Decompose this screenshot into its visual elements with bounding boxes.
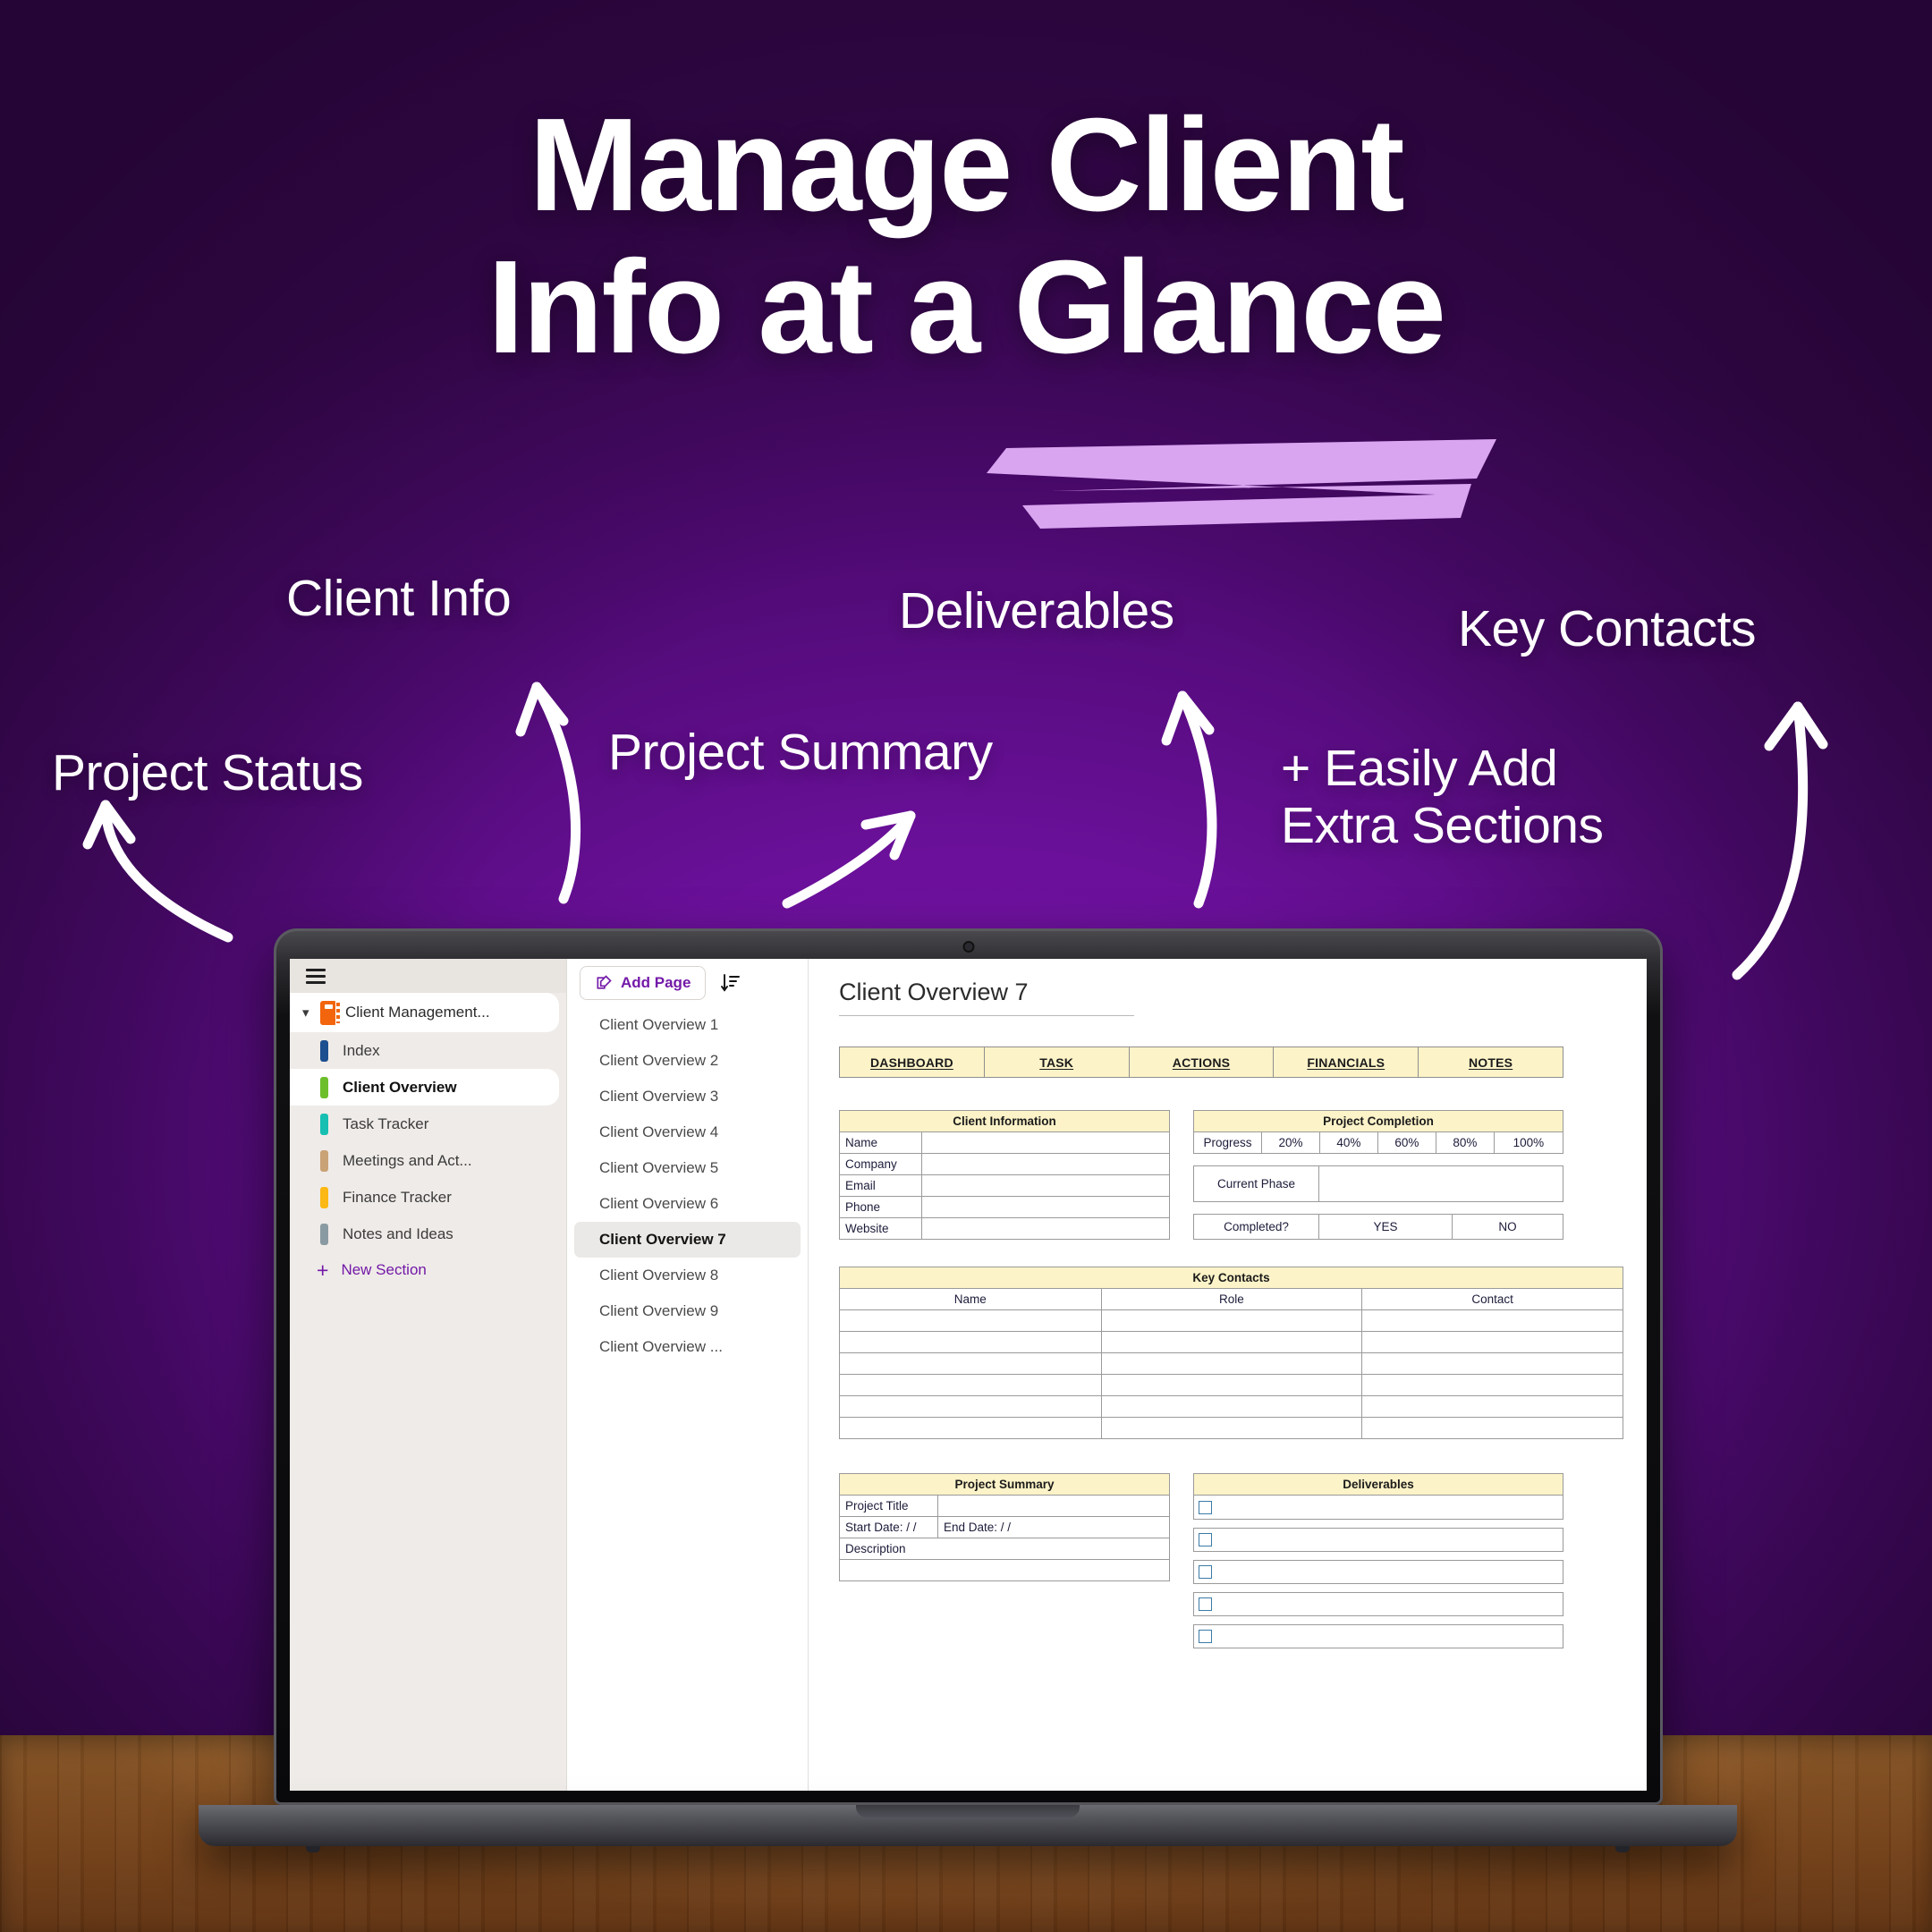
completed-table[interactable]: Completed? YES NO	[1193, 1214, 1563, 1240]
laptop-screen: ▾ Client Management... Index Client Over…	[290, 959, 1647, 1791]
page-item-label: Client Overview 5	[599, 1159, 718, 1177]
tab-label: DASHBOARD	[870, 1055, 953, 1070]
page-item-label: Client Overview 1	[599, 1016, 718, 1034]
field-value-company[interactable]	[922, 1154, 1170, 1175]
page-item[interactable]: Client Overview 5	[574, 1150, 801, 1186]
field-value-email[interactable]	[922, 1175, 1170, 1197]
section-color-tab	[320, 1114, 328, 1135]
plus-icon: +	[317, 1260, 328, 1281]
page-list-pane: Add Page Client Overview 1 Client Overvi…	[567, 959, 809, 1791]
sidebar-item-label: Notes and Ideas	[343, 1225, 453, 1243]
table-row	[840, 1375, 1623, 1396]
arrow-project-summary	[787, 816, 911, 903]
project-summary-table[interactable]: Project Summary Project Title Start Date…	[839, 1473, 1170, 1581]
table-row	[840, 1396, 1623, 1418]
webcam	[964, 943, 972, 951]
sidebar-item-label: Index	[343, 1042, 380, 1060]
completed-no[interactable]: NO	[1453, 1215, 1563, 1240]
page-item[interactable]: Client Overview 6	[574, 1186, 801, 1222]
laptop-foot-right	[1615, 1846, 1630, 1852]
key-contacts-table[interactable]: Key Contacts Name Role Contact	[839, 1267, 1623, 1439]
sidebar-item-notes-ideas[interactable]: Notes and Ideas	[290, 1216, 559, 1252]
progress-step-60[interactable]: 60%	[1377, 1132, 1436, 1154]
table-row	[840, 1353, 1623, 1375]
section-color-tab	[320, 1077, 328, 1098]
field-label: Phone	[840, 1197, 922, 1218]
page-item-label: Client Overview 3	[599, 1088, 718, 1106]
deliverables-header: Deliverables	[1194, 1474, 1563, 1496]
project-title-value[interactable]	[938, 1496, 1170, 1517]
page-item-selected[interactable]: Client Overview 7	[574, 1222, 801, 1258]
sidebar-item-index[interactable]: Index	[290, 1032, 559, 1069]
page-item-label: Client Overview ...	[599, 1338, 723, 1356]
sidebar-item-task-tracker[interactable]: Task Tracker	[290, 1106, 559, 1142]
completed-yes[interactable]: YES	[1319, 1215, 1453, 1240]
deliverable-item[interactable]	[1193, 1560, 1563, 1584]
page-item[interactable]: Client Overview 1	[574, 1007, 801, 1043]
sidebar-item-label: Task Tracker	[343, 1115, 428, 1133]
field-label: Website	[840, 1218, 922, 1240]
sidebar-item-label: Meetings and Act...	[343, 1152, 472, 1170]
field-value-phone[interactable]	[922, 1197, 1170, 1218]
tab-label: ACTIONS	[1173, 1055, 1230, 1070]
completed-label: Completed?	[1194, 1215, 1319, 1240]
tab-label: FINANCIALS	[1307, 1055, 1385, 1070]
start-date-field[interactable]: Start Date: / /	[840, 1517, 938, 1538]
sidebar-item-meetings[interactable]: Meetings and Act...	[290, 1142, 559, 1179]
tab-label: NOTES	[1469, 1055, 1513, 1070]
description-label: Description	[840, 1538, 1170, 1560]
project-completion-header: Project Completion	[1194, 1111, 1563, 1132]
progress-step-100[interactable]: 100%	[1494, 1132, 1563, 1154]
checkbox-icon[interactable]	[1199, 1501, 1212, 1514]
add-page-label: Add Page	[621, 974, 691, 992]
new-section-label: New Section	[341, 1261, 426, 1279]
tab-actions[interactable]: ACTIONS	[1130, 1046, 1275, 1078]
field-label: Email	[840, 1175, 922, 1197]
section-color-tab	[320, 1040, 328, 1062]
tab-task[interactable]: TASK	[985, 1046, 1130, 1078]
section-color-tab	[320, 1224, 328, 1245]
project-title-label: Project Title	[840, 1496, 938, 1517]
sidebar-toolbar	[290, 959, 566, 993]
description-value[interactable]	[840, 1560, 1170, 1581]
section-color-tab	[320, 1150, 328, 1172]
deliverable-item[interactable]	[1193, 1496, 1563, 1520]
laptop-mockup: ▾ Client Management... Index Client Over…	[274, 928, 1663, 1846]
key-contacts-col-contact: Contact	[1362, 1289, 1623, 1310]
page-item-label: Client Overview 8	[599, 1267, 718, 1284]
progress-step-20[interactable]: 20%	[1262, 1132, 1320, 1154]
deliverable-item[interactable]	[1193, 1528, 1563, 1552]
current-phase-label: Current Phase	[1194, 1166, 1319, 1202]
checkbox-icon[interactable]	[1199, 1533, 1212, 1546]
field-label: Company	[840, 1154, 922, 1175]
laptop-foot-left	[306, 1846, 320, 1852]
table-row	[840, 1418, 1623, 1439]
client-information-table[interactable]: Client Information Name Company Email Ph…	[839, 1110, 1170, 1240]
new-section-button[interactable]: + New Section	[290, 1252, 566, 1288]
sidebar-item-client-overview[interactable]: Client Overview	[290, 1069, 559, 1106]
chevron-down-icon[interactable]: ▾	[302, 1004, 318, 1021]
laptop-lid: ▾ Client Management... Index Client Over…	[274, 928, 1663, 1805]
notebook-sidebar: ▾ Client Management... Index Client Over…	[290, 959, 567, 1791]
key-contacts-header: Key Contacts	[840, 1267, 1623, 1289]
checkbox-icon[interactable]	[1199, 1630, 1212, 1643]
table-row	[840, 1310, 1623, 1332]
tab-financials[interactable]: FINANCIALS	[1274, 1046, 1419, 1078]
deliverable-item[interactable]	[1193, 1592, 1563, 1616]
page-item[interactable]: Client Overview 9	[574, 1293, 801, 1329]
checkbox-icon[interactable]	[1199, 1597, 1212, 1611]
hamburger-icon[interactable]	[306, 965, 326, 987]
section-color-tab	[320, 1187, 328, 1208]
tab-dashboard[interactable]: DASHBOARD	[839, 1046, 985, 1078]
tab-notes[interactable]: NOTES	[1419, 1046, 1563, 1078]
page-item-label: Client Overview 7	[599, 1231, 726, 1249]
field-value-website[interactable]	[922, 1218, 1170, 1240]
deliverables-header-table: Deliverables	[1193, 1473, 1563, 1496]
page-item[interactable]: Client Overview 8	[574, 1258, 801, 1293]
page-item[interactable]: Client Overview ...	[574, 1329, 801, 1365]
page-item-label: Client Overview 6	[599, 1195, 718, 1213]
page-item-label: Client Overview 9	[599, 1302, 718, 1320]
client-information-header: Client Information	[840, 1111, 1170, 1132]
laptop-notch	[856, 1805, 1080, 1818]
deliverable-item[interactable]	[1193, 1624, 1563, 1648]
laptop-base	[199, 1805, 1737, 1846]
checkbox-icon[interactable]	[1199, 1565, 1212, 1579]
progress-step-40[interactable]: 40%	[1319, 1132, 1377, 1154]
page-item[interactable]: Client Overview 2	[574, 1043, 801, 1079]
current-phase-table[interactable]: Current Phase	[1193, 1165, 1563, 1202]
page-list-toolbar: Add Page	[567, 959, 808, 1007]
project-completion-table[interactable]: Project Completion Progress 20% 40% 60% …	[1193, 1110, 1563, 1154]
field-value-name[interactable]	[922, 1132, 1170, 1154]
end-date-field[interactable]: End Date: / /	[938, 1517, 1170, 1538]
page-item[interactable]: Client Overview 3	[574, 1079, 801, 1114]
add-page-button[interactable]: Add Page	[580, 966, 706, 1000]
compose-icon	[595, 974, 613, 992]
sidebar-item-label: Client Overview	[343, 1079, 457, 1097]
page-item-label: Client Overview 4	[599, 1123, 718, 1141]
tab-label: TASK	[1039, 1055, 1073, 1070]
page-item[interactable]: Client Overview 4	[574, 1114, 801, 1150]
key-contacts-col-name: Name	[840, 1289, 1102, 1310]
progress-step-80[interactable]: 80%	[1436, 1132, 1494, 1154]
sidebar-item-label: Finance Tracker	[343, 1189, 452, 1207]
progress-label: Progress	[1194, 1132, 1262, 1154]
project-summary-header: Project Summary	[840, 1474, 1170, 1496]
notebook-title: Client Management...	[345, 1004, 490, 1021]
notebook-header[interactable]: ▾ Client Management...	[290, 993, 559, 1032]
sort-descending-icon[interactable]	[716, 970, 743, 996]
notebook-icon	[320, 1001, 340, 1025]
table-row	[840, 1332, 1623, 1353]
page-title[interactable]: Client Overview 7	[839, 979, 1134, 1016]
document-tab-bar: DASHBOARD TASK ACTIONS FINANCIALS NOTES	[839, 1046, 1563, 1078]
page-item-label: Client Overview 2	[599, 1052, 718, 1070]
field-label: Name	[840, 1132, 922, 1154]
key-contacts-col-role: Role	[1101, 1289, 1362, 1310]
document-canvas[interactable]: Client Overview 7 DASHBOARD TASK ACTIONS…	[809, 959, 1647, 1791]
sidebar-item-finance-tracker[interactable]: Finance Tracker	[290, 1179, 559, 1216]
current-phase-value[interactable]	[1319, 1166, 1563, 1202]
